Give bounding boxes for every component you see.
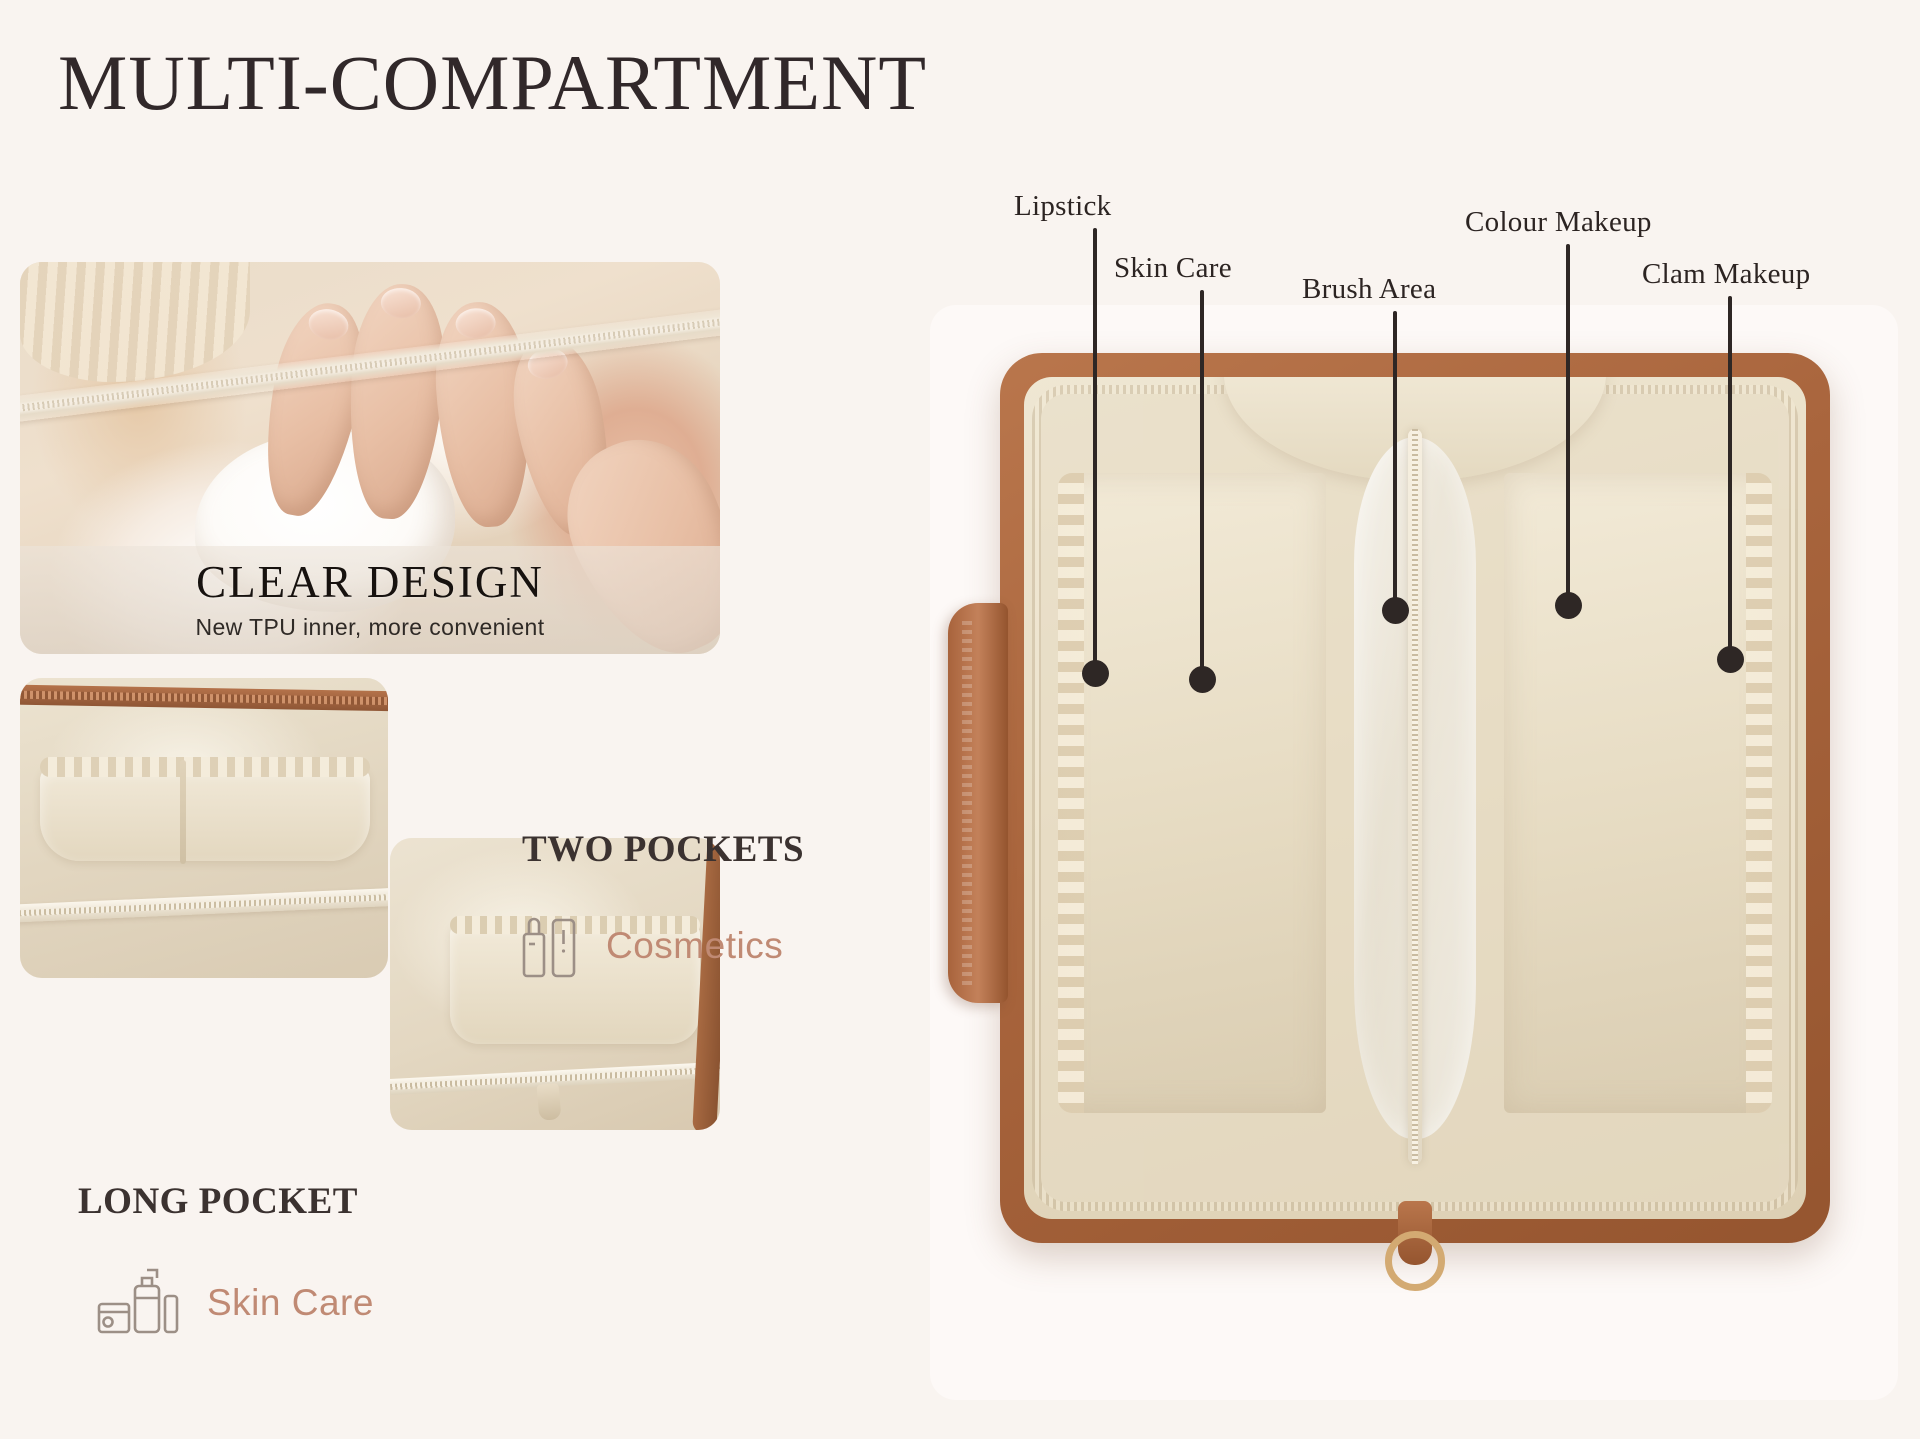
callout-brush-area-leader — [1393, 311, 1397, 605]
callout-colour-makeup-dot — [1555, 592, 1582, 619]
cosmetics-label: Cosmetics — [606, 925, 783, 967]
bag-interior — [1024, 377, 1806, 1219]
zipper-pull — [536, 1083, 561, 1121]
clear-design-overlay: CLEAR DESIGN New TPU inner, more conveni… — [20, 546, 720, 654]
pocket-divider — [180, 760, 186, 864]
page-title: MULTI-COMPARTMENT — [58, 38, 927, 128]
cosmetics-feature-row: Cosmetics — [520, 910, 783, 982]
callout-lipstick-leader — [1093, 228, 1097, 668]
metal-ring — [1385, 1231, 1445, 1291]
callout-brush-area-label: Brush Area — [1302, 273, 1436, 306]
callout-brush-area-dot — [1382, 597, 1409, 624]
callout-colour-makeup-leader — [1566, 244, 1570, 600]
callout-colour-makeup-label: Colour Makeup — [1465, 206, 1652, 239]
clear-design-subtitle: New TPU inner, more convenient — [195, 614, 544, 641]
callout-skin-care-leader — [1200, 290, 1204, 674]
callout-lipstick-label: Lipstick — [1014, 190, 1111, 223]
callout-skin-care-dot — [1189, 666, 1216, 693]
center-zipper — [1408, 429, 1422, 1164]
elastic-ruffle — [1058, 473, 1084, 1113]
callout-skin-care-label: Skin Care — [1114, 252, 1232, 285]
photo-main-bag — [930, 305, 1898, 1400]
callout-lipstick-dot — [1082, 660, 1109, 687]
skincare-label: Skin Care — [207, 1282, 374, 1324]
callout-clam-makeup-label: Clam Makeup — [1642, 258, 1810, 291]
elastic-ruffle — [1746, 473, 1772, 1113]
photo-two-pockets — [390, 838, 720, 1130]
clear-design-heading: CLEAR DESIGN — [196, 560, 544, 605]
cosmetic-bag — [1000, 353, 1830, 1243]
photo-long-pocket — [20, 678, 388, 978]
bag-handle — [948, 603, 1008, 1003]
infographic-page: MULTI-COMPARTMENT CLEAR DESIGN New TPU i… — [0, 0, 1920, 1439]
lotion-bottle-icon — [95, 1268, 181, 1338]
lipstick-icon — [520, 910, 582, 982]
skincare-feature-row: Skin Care — [95, 1268, 374, 1338]
two-pockets-title: TWO POCKETS — [522, 828, 804, 871]
long-pocket-pouch — [40, 766, 370, 861]
photo-clear-design: CLEAR DESIGN New TPU inner, more conveni… — [20, 262, 720, 654]
left-compartment — [1058, 473, 1326, 1113]
callout-clam-makeup-leader — [1728, 296, 1732, 654]
callout-clam-makeup-dot — [1717, 646, 1744, 673]
long-pocket-title: LONG POCKET — [78, 1180, 358, 1223]
